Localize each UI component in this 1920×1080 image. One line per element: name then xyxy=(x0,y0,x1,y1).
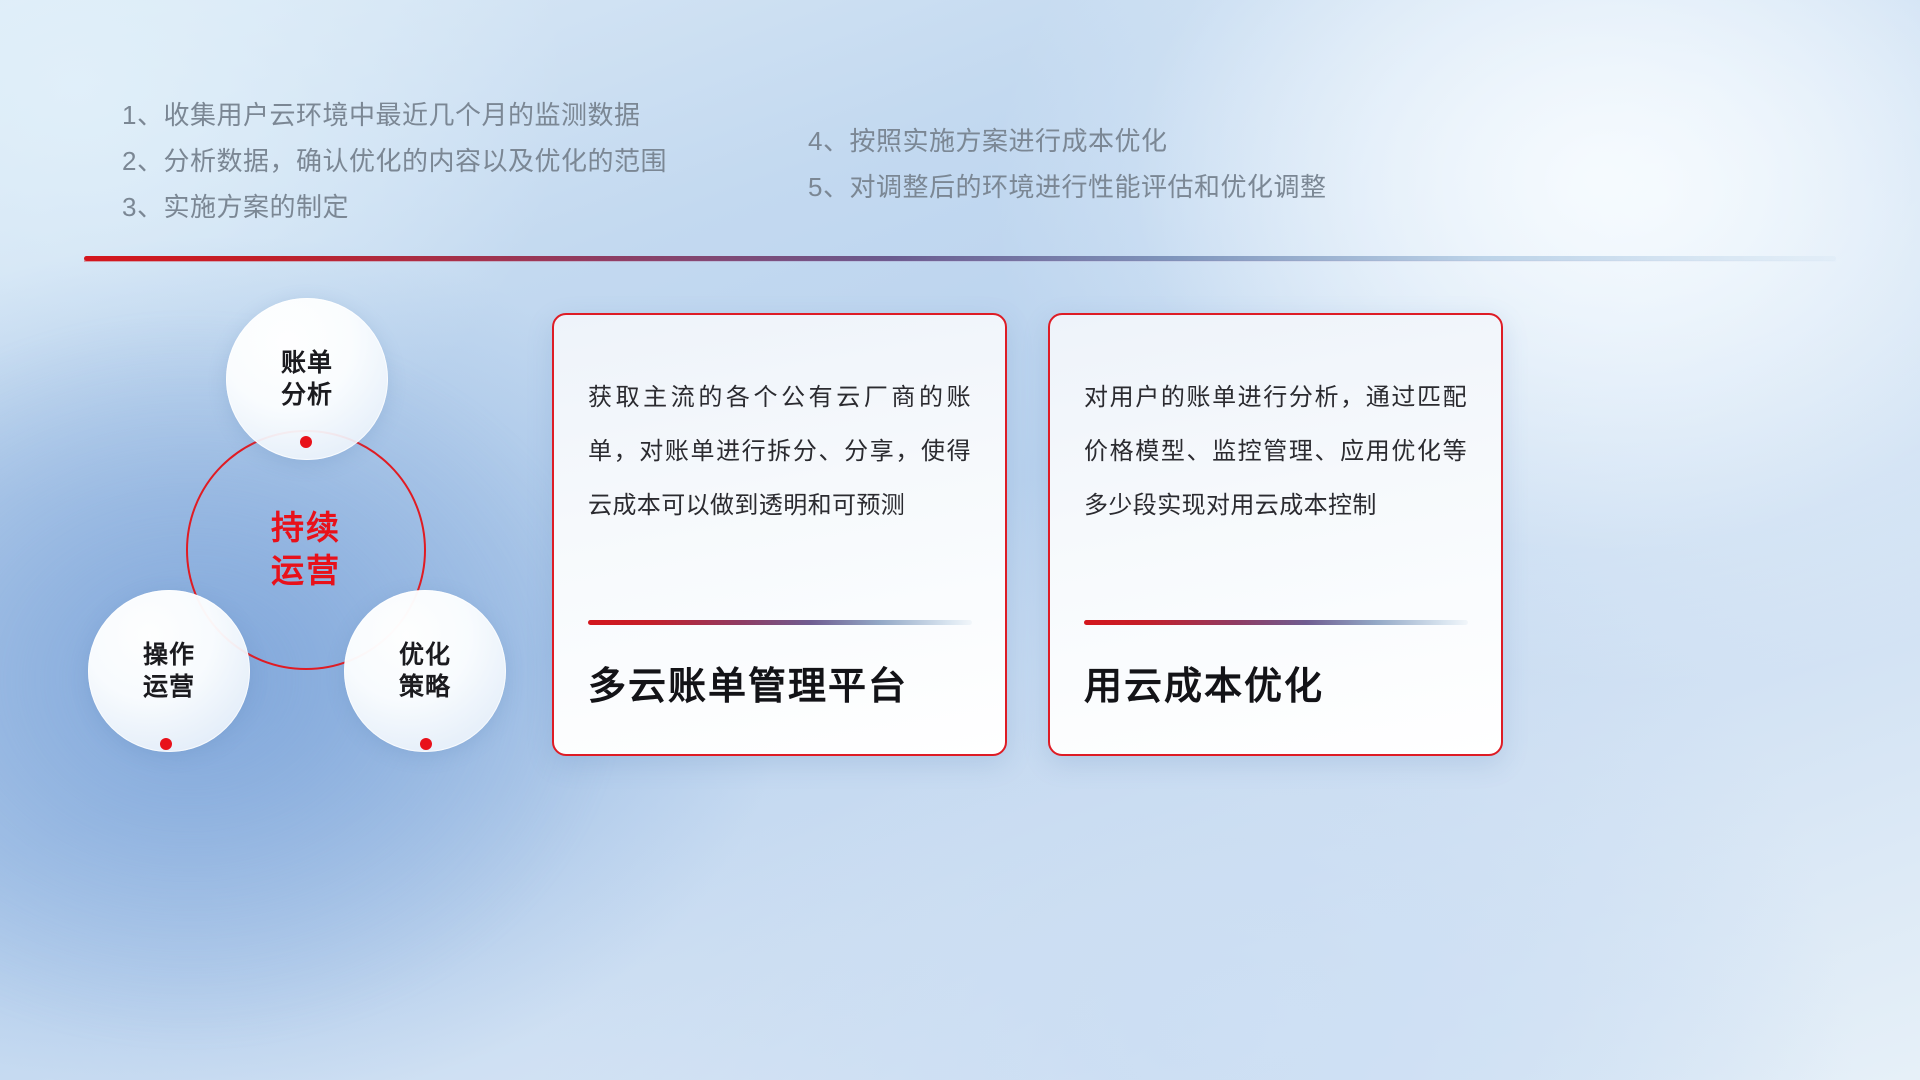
step-item-4: 4、按照实施方案进行成本优化 xyxy=(808,118,1448,164)
card-cloud-cost-optimization[interactable]: 对用户的账单进行分析，通过匹配价格模型、监控管理、应用优化等多少段实现对用云成本… xyxy=(1048,313,1503,756)
steps-column-right: 4、按照实施方案进行成本优化 5、对调整后的环境进行性能评估和优化调整 xyxy=(808,118,1448,210)
step-item-1: 1、收集用户云环境中最近几个月的监测数据 xyxy=(122,92,762,138)
card-title: 用云成本优化 xyxy=(1084,655,1467,710)
step-item-3: 3、实施方案的制定 xyxy=(122,184,762,230)
card-divider-rule xyxy=(1084,620,1468,625)
continuous-operation-diagram: 持续 运营 账单 分析 操作 运营 优化 策略 xyxy=(76,290,546,770)
bubble-label-line-2: 分析 xyxy=(281,379,333,411)
step-item-2: 2、分析数据，确认优化的内容以及优化的范围 xyxy=(122,138,762,184)
card-divider-rule xyxy=(588,620,972,625)
steps-list: 1、收集用户云环境中最近几个月的监测数据 2、分析数据，确认优化的内容以及优化的… xyxy=(0,92,1920,252)
node-dot-left-icon xyxy=(160,738,172,750)
diagram-bubble-optimization-strategy[interactable]: 优化 策略 xyxy=(344,590,506,752)
node-dot-right-icon xyxy=(420,738,432,750)
card-body-text: 对用户的账单进行分析，通过匹配价格模型、监控管理、应用优化等多少段实现对用云成本… xyxy=(1084,371,1467,533)
section-divider-rule xyxy=(84,256,1836,261)
step-item-5: 5、对调整后的环境进行性能评估和优化调整 xyxy=(808,164,1448,210)
bubble-label-line-1: 操作 xyxy=(143,639,195,671)
diagram-bubble-operation-ops[interactable]: 操作 运营 xyxy=(88,590,250,752)
bubble-label-line-1: 账单 xyxy=(281,347,333,379)
center-label-line-2: 运营 xyxy=(271,550,341,593)
steps-column-left: 1、收集用户云环境中最近几个月的监测数据 2、分析数据，确认优化的内容以及优化的… xyxy=(122,92,762,230)
node-dot-top-icon xyxy=(300,436,312,448)
bubble-label-line-2: 策略 xyxy=(399,671,451,703)
card-multi-cloud-bill-platform[interactable]: 获取主流的各个公有云厂商的账单，对账单进行拆分、分享，使得云成本可以做到透明和可… xyxy=(552,313,1007,756)
card-body-text: 获取主流的各个公有云厂商的账单，对账单进行拆分、分享，使得云成本可以做到透明和可… xyxy=(588,371,971,533)
bubble-label-line-2: 运营 xyxy=(143,671,195,703)
card-title: 多云账单管理平台 xyxy=(588,655,971,710)
bubble-label-line-1: 优化 xyxy=(399,639,451,671)
center-label-line-1: 持续 xyxy=(271,507,341,550)
